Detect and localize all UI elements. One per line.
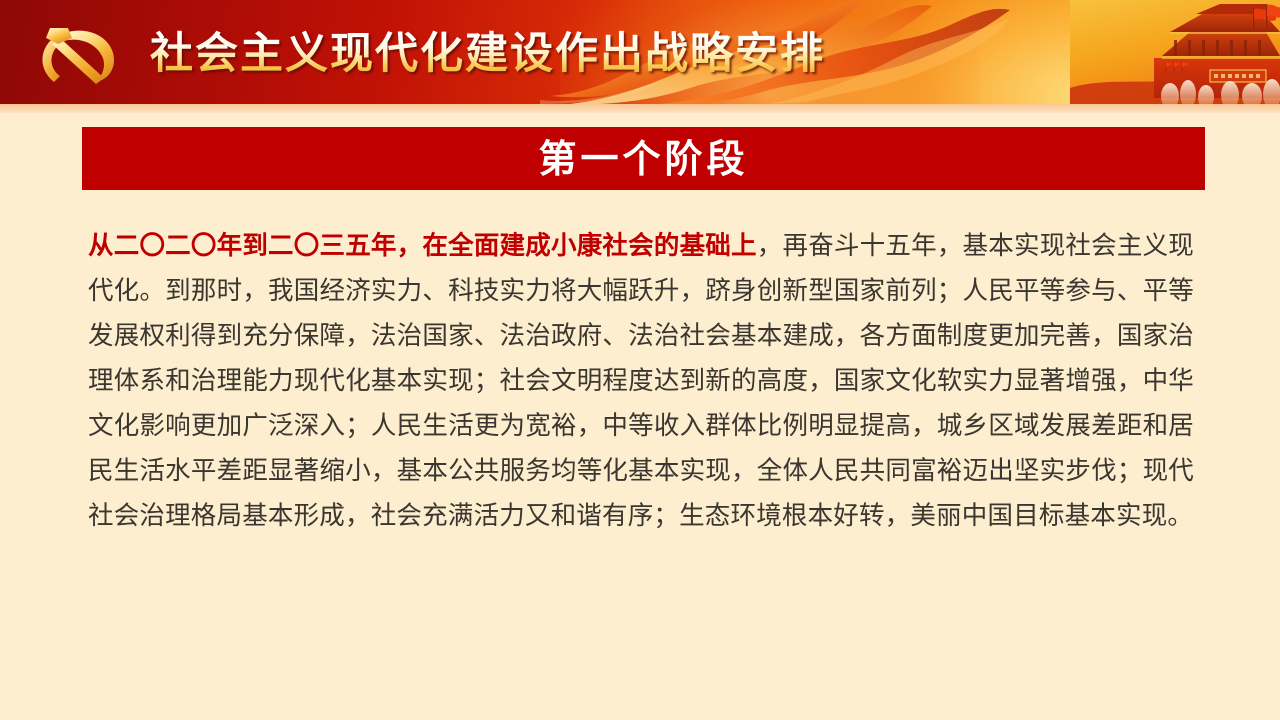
slide-root: 社会主义现代化建设作出战略安排 第一个阶段 从二〇二〇年到二〇三五年，在全面建成… [0,0,1280,720]
banner-under-band [0,104,1280,113]
tiananmen-gate-icon [1070,0,1280,104]
hammer-and-sickle-icon [38,22,130,88]
section-title-bar: 第一个阶段 [82,127,1205,190]
section-title: 第一个阶段 [538,139,748,179]
body-rest-text: ，再奋斗十五年，基本实现社会主义现代化。到那时，我国经济实力、科技实力将大幅跃升… [88,231,1194,531]
banner-title: 社会主义现代化建设作出战略安排 [150,28,825,80]
header-banner: 社会主义现代化建设作出战略安排 [0,0,1280,104]
body-highlight-text: 从二〇二〇年到二〇三五年，在全面建成小康社会的基础上 [88,231,757,261]
body-content: 从二〇二〇年到二〇三五年，在全面建成小康社会的基础上，再奋斗十五年，基本实现社会… [88,224,1194,539]
body-paragraph: 从二〇二〇年到二〇三五年，在全面建成小康社会的基础上，再奋斗十五年，基本实现社会… [88,224,1194,539]
